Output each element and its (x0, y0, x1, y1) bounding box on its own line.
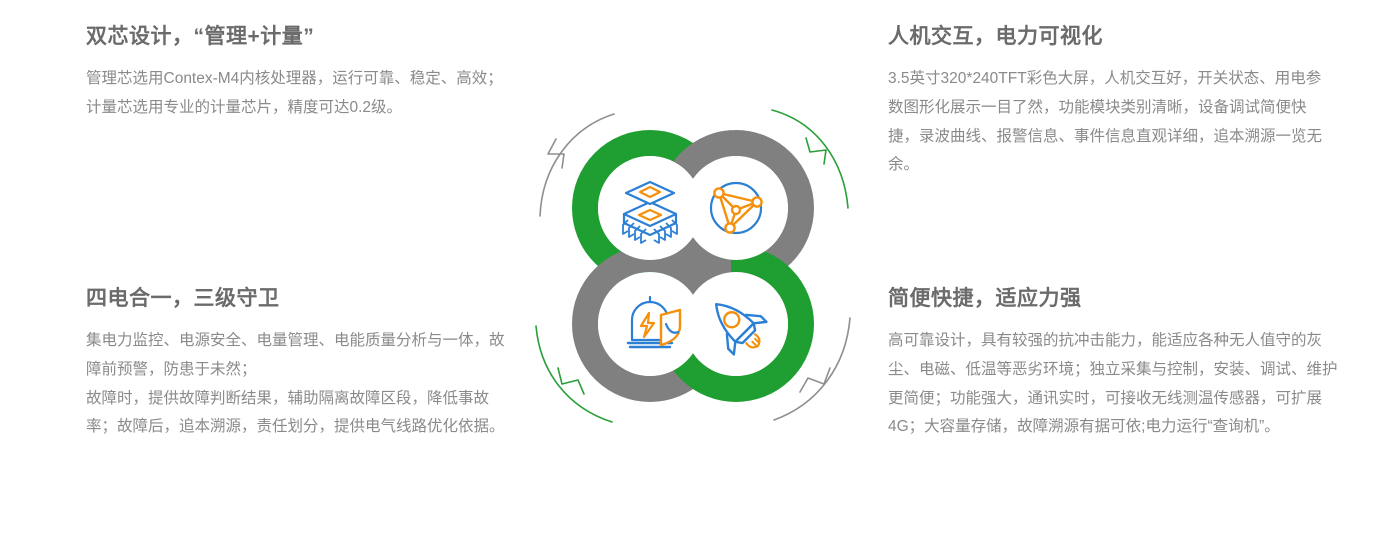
center-rings-graphic (518, 96, 868, 436)
feature-page: 双芯设计，“管理+计量” 管理芯选用Contex-M4内核处理器，运行可靠、稳定… (0, 0, 1400, 557)
feature-block-four-in-one: 四电合一，三级守卫 集电力监控、电源安全、电量管理、电能质量分析与一体，故障前预… (86, 286, 506, 442)
feature-title-dual-core: 双芯设计，“管理+计量” (86, 24, 506, 49)
feature-body-convenience: 高可靠设计，具有较强的抗冲击能力，能适应各种无人值守的灰尘、电磁、低温等恶劣环境… (888, 327, 1338, 442)
feature-block-dual-core: 双芯设计，“管理+计量” 管理芯选用Contex-M4内核处理器，运行可靠、稳定… (86, 24, 506, 123)
feature-body-dual-core: 管理芯选用Contex-M4内核处理器，运行可靠、稳定、高效；计量芯选用专业的计… (86, 65, 506, 122)
feature-body-four-in-one: 集电力监控、电源安全、电量管理、电能质量分析与一体，故障前预警，防患于未然；故障… (86, 327, 506, 442)
feature-title-convenience: 简便快捷，适应力强 (888, 286, 1338, 311)
feature-title-four-in-one: 四电合一，三级守卫 (86, 286, 506, 311)
feature-body-hmi: 3.5英寸320*240TFT彩色大屏，人机交互好，开关状态、用电参数图形化展示… (888, 65, 1328, 180)
feature-title-hmi: 人机交互，电力可视化 (888, 24, 1328, 49)
feature-block-hmi: 人机交互，电力可视化 3.5英寸320*240TFT彩色大屏，人机交互好，开关状… (888, 24, 1328, 180)
feature-block-convenience: 简便快捷，适应力强 高可靠设计，具有较强的抗冲击能力，能适应各种无人值守的灰尘、… (888, 286, 1338, 442)
